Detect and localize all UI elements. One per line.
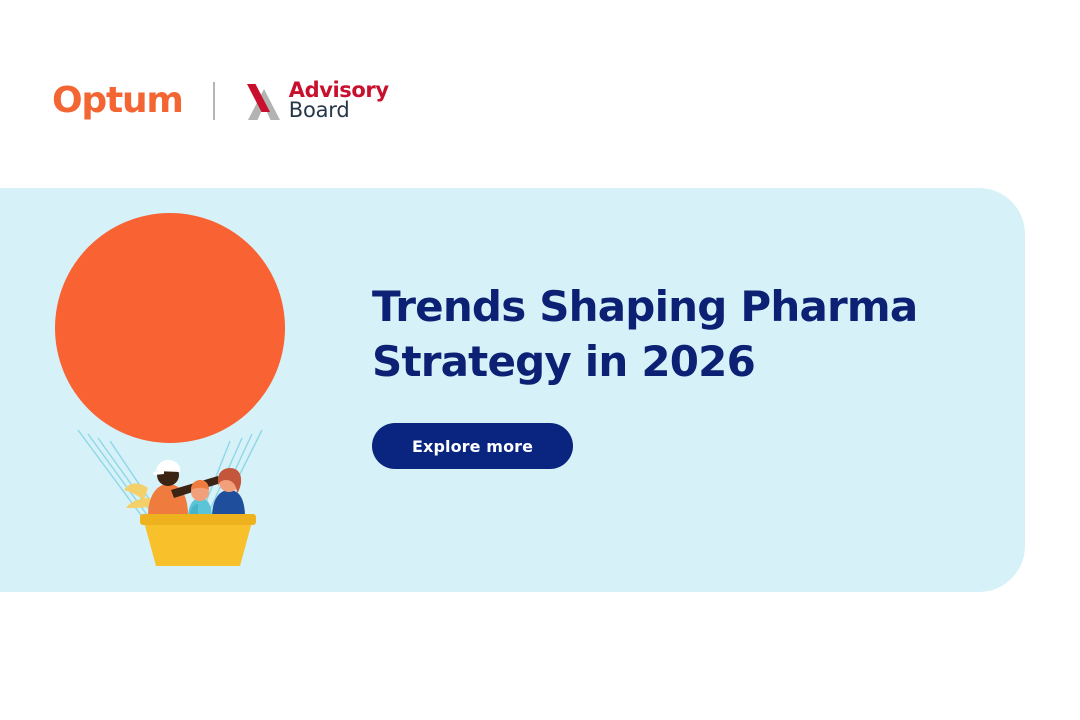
advisory-board-wordmark: Advisory Board: [289, 81, 389, 120]
explore-more-button[interactable]: Explore more: [372, 423, 573, 469]
page-title: Trends Shaping Pharma Strategy in 2026: [372, 280, 932, 389]
advisory-board-chevron-icon: [243, 82, 287, 120]
logo-divider: [213, 82, 215, 120]
balloon-envelope-icon: [55, 213, 285, 443]
hero-copy: Trends Shaping Pharma Strategy in 2026 E…: [372, 280, 932, 469]
balloon-basket-icon: [140, 514, 256, 566]
hot-air-balloon-illustration: [40, 198, 320, 568]
optum-logo[interactable]: Optum: [52, 83, 183, 119]
header-logo-lockup: Optum Advisory Board: [52, 78, 389, 124]
advisory-board-logo[interactable]: Advisory Board: [243, 78, 389, 124]
hero-card: Trends Shaping Pharma Strategy in 2026 E…: [0, 188, 1025, 592]
board-text: Board: [289, 101, 389, 121]
